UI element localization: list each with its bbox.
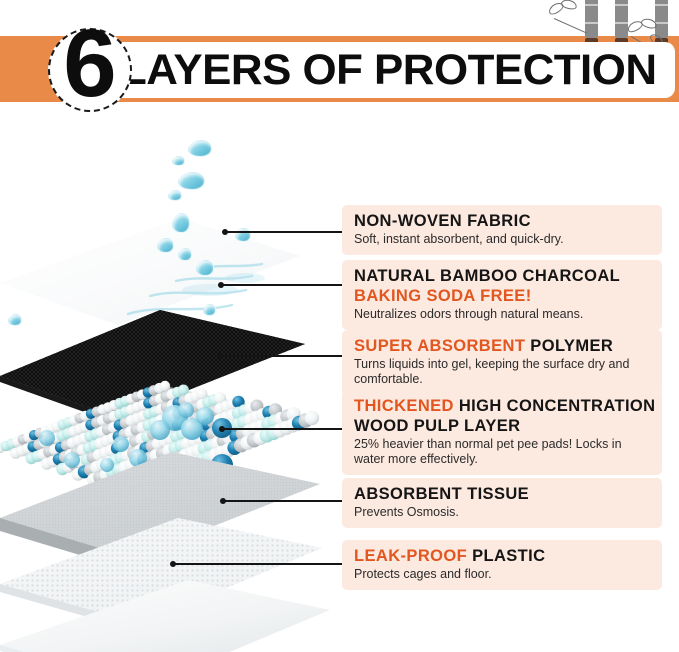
water-droplet — [178, 248, 192, 261]
callout-subheading: BAKING SODA FREE! — [354, 286, 652, 306]
layer-count-number: 6 — [48, 10, 132, 118]
callout-body: Protects cages and floor. — [354, 567, 652, 582]
callout-body: 25% heavier than normal pet pee pads! Lo… — [354, 437, 652, 467]
header-banner: LAYERS OF PROTECTION 6 — [0, 0, 679, 118]
callout-heading-rest: PLASTIC — [467, 547, 545, 565]
callout-heading: NATURAL BAMBOO CHARCOAL — [354, 266, 652, 286]
non-woven-fabric-sheet — [0, 218, 300, 325]
callout-non-woven-fabric: NON-WOVEN FABRIC Soft, instant absorbent… — [342, 205, 662, 255]
callout-heading-rest: HIGH CONCENTRATION — [454, 397, 656, 415]
leader-line-1 — [226, 231, 342, 233]
callout-heading: NON-WOVEN FABRIC — [354, 211, 652, 231]
callout-heading-highlight: LEAK-PROOF — [354, 547, 467, 565]
water-droplet — [8, 314, 22, 326]
water-droplet — [203, 304, 216, 316]
water-droplet — [172, 213, 190, 233]
water-droplet — [168, 190, 182, 201]
callout-body: Neutralizes odors through natural means. — [354, 307, 652, 322]
bamboo-stalk-3 — [655, 0, 668, 38]
callout-heading-rest: POLYMER — [525, 337, 613, 355]
bamboo-stalk-2 — [615, 0, 628, 38]
infographic-root: LAYERS OF PROTECTION 6 — [0, 0, 679, 652]
callout-heading-highlight: THICKENED — [354, 397, 454, 415]
callout-heading-highlight: SUPER ABSORBENT — [354, 337, 525, 355]
callout-body: Turns liquids into gel, keeping the surf… — [354, 357, 652, 387]
water-droplet — [196, 260, 214, 276]
callout-subheading: WOOD PULP LAYER — [354, 416, 652, 436]
callout-bamboo-charcoal: NATURAL BAMBOO CHARCOAL BAKING SODA FREE… — [342, 260, 662, 330]
water-droplet — [178, 172, 205, 190]
leader-line-3 — [222, 355, 342, 357]
exploded-layers-illustration — [0, 118, 340, 652]
water-droplet — [188, 140, 212, 157]
callout-body: Prevents Osmosis. — [354, 505, 652, 520]
water-droplet — [172, 156, 185, 166]
leader-line-2 — [222, 284, 342, 286]
callout-leak-proof-plastic: LEAK-PROOF PLASTIC Protects cages and fl… — [342, 540, 662, 590]
leader-line-6 — [174, 563, 342, 565]
callout-super-absorbent-polymer: SUPER ABSORBENT POLYMER Turns liquids in… — [342, 330, 662, 395]
callout-heading: ABSORBENT TISSUE — [354, 484, 652, 504]
leader-line-4 — [223, 428, 342, 430]
callout-wood-pulp-layer: THICKENED HIGH CONCENTRATION WOOD PULP L… — [342, 390, 662, 475]
callout-body: Soft, instant absorbent, and quick-dry. — [354, 232, 652, 247]
callout-heading: THICKENED HIGH CONCENTRATION — [354, 396, 652, 416]
water-droplet — [157, 238, 174, 253]
callout-absorbent-tissue: ABSORBENT TISSUE Prevents Osmosis. — [342, 478, 662, 528]
page-title: LAYERS OF PROTECTION — [120, 42, 679, 98]
callout-heading: LEAK-PROOF PLASTIC — [354, 546, 652, 566]
callout-heading: SUPER ABSORBENT POLYMER — [354, 336, 652, 356]
leader-line-5 — [224, 500, 342, 502]
